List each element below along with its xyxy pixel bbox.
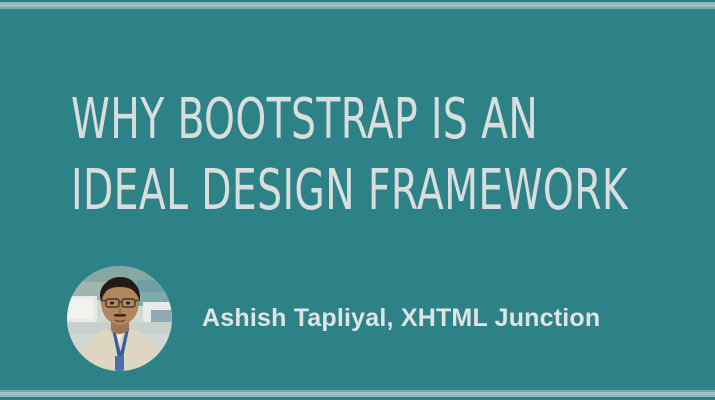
band-stripe [0,0,715,2]
author-byline: Ashish Tapliyal, XHTML Junction [67,266,600,371]
band-stripe [0,390,715,392]
title-line-2: IDEAL DESIGN FRAMEWORK [71,155,539,226]
band-stripe [0,2,715,4]
title-line-1: WHY BOOTSTRAP IS AN [71,84,539,155]
avatar-photo-icon [67,266,172,371]
band-stripe [0,392,715,395]
band-stripe [0,388,715,390]
slide-title: WHY BOOTSTRAP IS AN IDEAL DESIGN FRAMEWO… [71,84,671,226]
title-slide: WHY BOOTSTRAP IS AN IDEAL DESIGN FRAMEWO… [0,0,715,400]
band-stripe [0,7,715,9]
author-name-label: Ashish Tapliyal, XHTML Junction [202,304,600,333]
avatar [67,266,172,371]
top-divider-band [0,0,715,11]
band-stripe [0,4,715,7]
band-stripe [0,395,715,397]
band-stripe [0,9,715,11]
bottom-divider-band [0,388,715,400]
